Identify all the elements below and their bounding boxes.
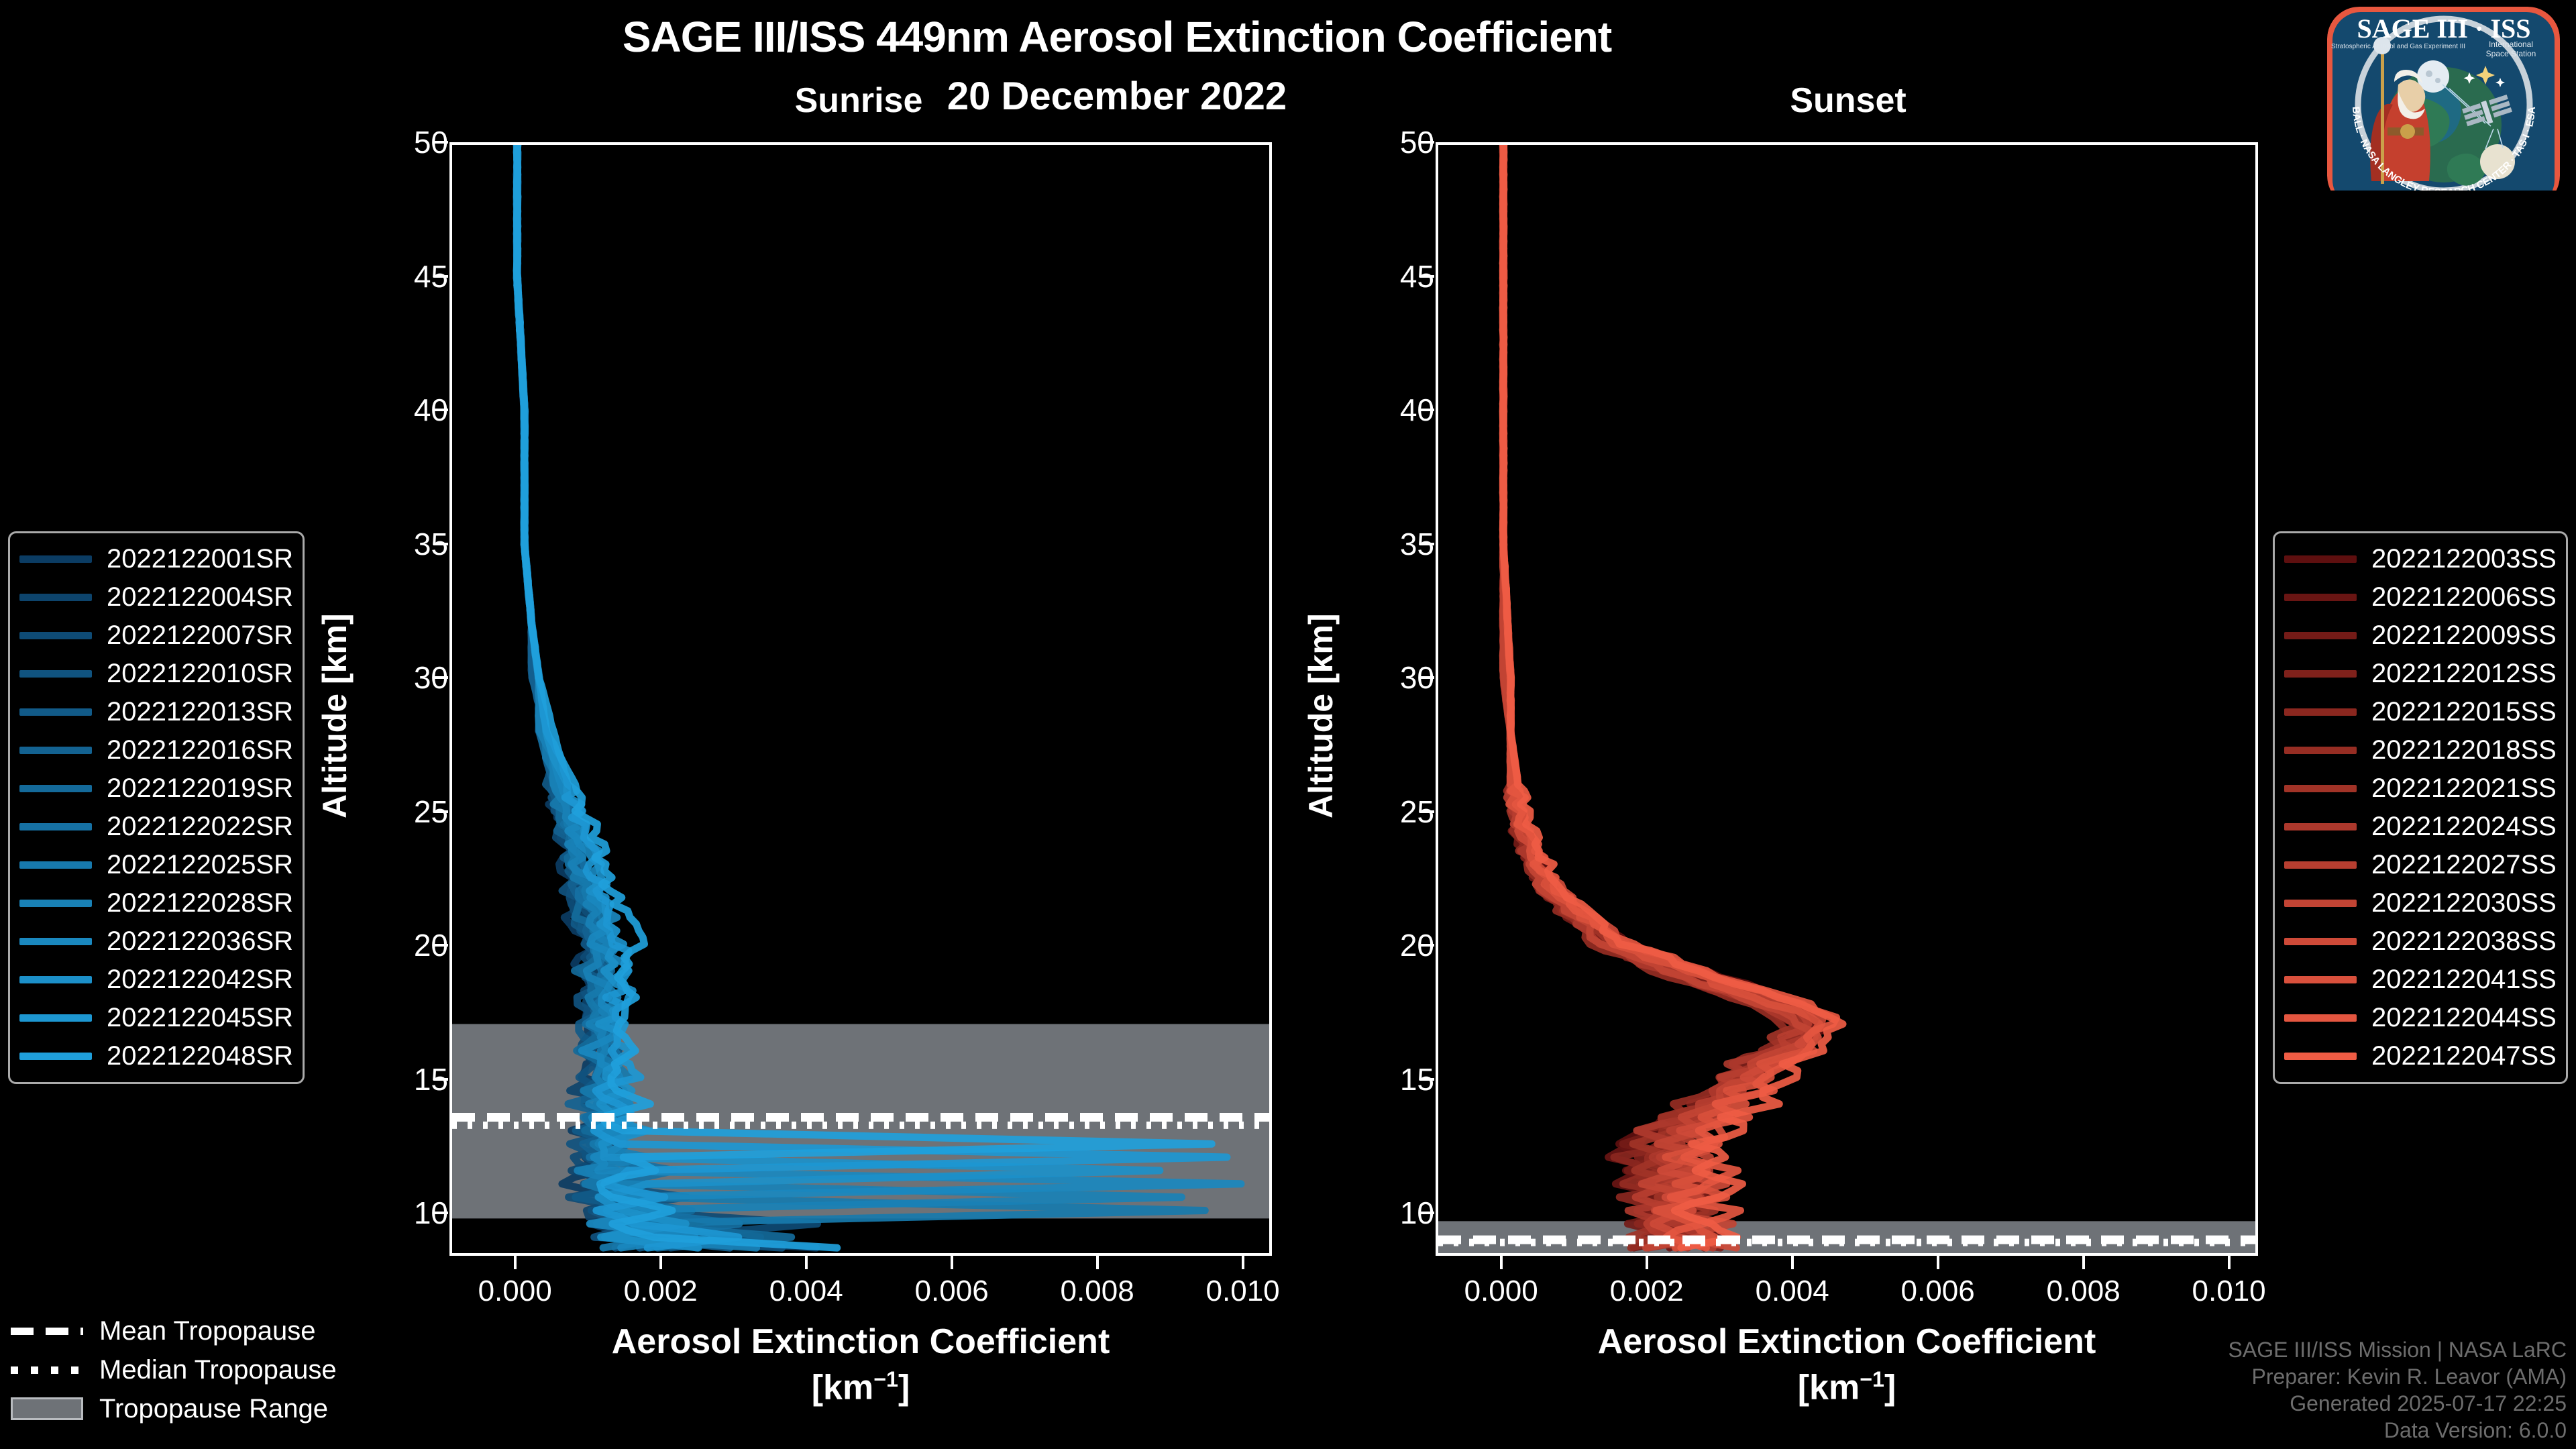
legend-item[interactable]: 2022122016SR [19, 731, 293, 769]
legend-item[interactable]: 2022122012SS [2284, 655, 2557, 693]
legend-color-swatch [19, 555, 92, 563]
legend-item-label: 2022122006SS [2371, 582, 2557, 612]
x-axis-tick-label: 0.004 [1756, 1275, 1829, 1308]
profile-line [1503, 145, 1843, 1248]
legend-item-label: 2022122048SR [107, 1041, 293, 1071]
sunrise-profile-lines [452, 145, 1269, 1253]
sunset-panel-title: Sunset [1436, 80, 2261, 121]
legend-color-swatch [2284, 594, 2357, 601]
legend-item-label: 2022122010SR [107, 659, 293, 689]
sunrise-x-axis-title: Aerosol Extinction Coefficient [449, 1322, 1272, 1362]
legend-item[interactable]: 2022122028SR [19, 884, 293, 922]
x-axis-tick-mark [514, 1256, 517, 1269]
x-axis-tick-mark [805, 1256, 808, 1269]
legend-item-mean-tropopause: Mean Tropopause [11, 1311, 386, 1350]
legend-color-swatch [19, 938, 92, 945]
y-axis-tick-mark [433, 1212, 448, 1214]
y-axis-tick-mark [433, 543, 448, 545]
x-unit-exponent: −1 [1860, 1367, 1884, 1391]
x-axis-tick-label: 0.004 [769, 1275, 843, 1308]
legend-color-swatch [2284, 632, 2357, 639]
sunrise-x-axis: 0.0000.0020.0040.0060.0080.010 [449, 1256, 1272, 1316]
legend-color-swatch [19, 785, 92, 792]
legend-item-label: 2022122027SS [2371, 850, 2557, 880]
legend-item-label: 2022122016SR [107, 735, 293, 765]
legend-color-swatch [19, 670, 92, 678]
x-axis-tick-label: 0.008 [2047, 1275, 2121, 1308]
legend-item[interactable]: 2022122004SR [19, 578, 293, 616]
legend-item-label: 2022122018SS [2371, 735, 2557, 765]
legend-color-swatch [19, 900, 92, 907]
legend-item-label: 2022122001SR [107, 544, 293, 574]
legend-color-swatch [19, 861, 92, 869]
legend-color-swatch [2284, 708, 2357, 716]
y-axis-tick-mark [433, 810, 448, 813]
legend-item-label: 2022122047SS [2371, 1041, 2557, 1071]
legend-item[interactable]: 2022122048SR [19, 1037, 293, 1075]
legend-item-label: 2022122003SS [2371, 544, 2557, 574]
sunset-series-legend[interactable]: 2022122003SS2022122006SS2022122009SS2022… [2273, 531, 2568, 1084]
legend-item-label: 2022122044SS [2371, 1003, 2557, 1033]
x-axis-tick-label: 0.010 [2192, 1275, 2266, 1308]
legend-item[interactable]: 2022122036SR [19, 922, 293, 961]
legend-item[interactable]: 2022122041SS [2284, 961, 2557, 999]
legend-item-label: 2022122009SS [2371, 621, 2557, 651]
x-axis-tick-mark [1242, 1256, 1244, 1269]
legend-item-label: 2022122025SR [107, 850, 293, 880]
legend-item[interactable]: 2022122027SS [2284, 846, 2557, 884]
x-axis-tick-label: 0.000 [478, 1275, 552, 1308]
sunset-plot-area [1436, 142, 2258, 1256]
profile-line [1503, 145, 1821, 1248]
legend-item-label: 2022122042SR [107, 965, 293, 995]
legend-color-swatch [19, 632, 92, 639]
legend-item[interactable]: 2022122013SR [19, 693, 293, 731]
legend-item[interactable]: 2022122003SS [2284, 540, 2557, 578]
legend-item[interactable]: 2022122010SR [19, 655, 293, 693]
credits-line-preparer: Preparer: Kevin R. Leavor (AMA) [2229, 1363, 2567, 1390]
legend-color-swatch [2284, 900, 2357, 907]
legend-item-label: 2022122038SS [2371, 926, 2557, 957]
y-axis-tick-mark [1419, 543, 1434, 545]
legend-color-swatch [19, 823, 92, 830]
sunset-x-axis-unit: [km−1] [1436, 1367, 2258, 1407]
dashed-line-icon [11, 1320, 83, 1342]
legend-label-tropopause-range: Tropopause Range [99, 1394, 328, 1424]
legend-item[interactable]: 2022122007SR [19, 616, 293, 655]
x-unit-exponent: −1 [873, 1367, 898, 1391]
credits-line-generated: Generated 2025-07-17 22:25 [2229, 1390, 2567, 1417]
patch-subtitle-right-2: Space Station [2486, 49, 2536, 58]
legend-item[interactable]: 2022122006SS [2284, 578, 2557, 616]
legend-item-label: 2022122012SS [2371, 659, 2557, 689]
sunrise-plot-area [449, 142, 1272, 1256]
y-axis-tick-mark [1419, 1212, 1434, 1214]
y-axis-tick-mark [433, 275, 448, 278]
legend-item-label: 2022122021SS [2371, 773, 2557, 804]
legend-item[interactable]: 2022122019SR [19, 769, 293, 808]
legend-item-label: 2022122019SR [107, 773, 293, 804]
legend-item[interactable]: 2022122047SS [2284, 1037, 2557, 1075]
sunset-profile-lines [1438, 145, 2255, 1253]
legend-item-label: 2022122013SR [107, 697, 293, 727]
y-axis-tick-mark [1419, 275, 1434, 278]
x-axis-tick-mark [1937, 1256, 1939, 1269]
legend-item[interactable]: 2022122030SS [2284, 884, 2557, 922]
legend-item-label: 2022122041SS [2371, 965, 2557, 995]
x-unit-prefix: [km [812, 1368, 873, 1407]
legend-color-swatch [19, 1053, 92, 1060]
x-unit-suffix: ] [898, 1368, 910, 1407]
legend-color-swatch [19, 708, 92, 716]
profile-line [1503, 145, 1819, 1248]
credits-block: SAGE III/ISS Mission | NASA LaRC Prepare… [2229, 1336, 2567, 1444]
y-axis-tick-mark [1419, 141, 1434, 144]
y-axis-tick-mark [433, 409, 448, 411]
legend-item-median-tropopause: Median Tropopause [11, 1350, 386, 1389]
legend-label-median-tropopause: Median Tropopause [99, 1355, 337, 1385]
sunset-x-axis-title: Aerosol Extinction Coefficient [1436, 1322, 2258, 1362]
sunset-y-axis-title: Altitude [km] [1301, 613, 1340, 818]
x-axis-tick-mark [1791, 1256, 1794, 1269]
patch-subtitle-right-1: International [2489, 40, 2533, 49]
legend-color-swatch [2284, 670, 2357, 678]
x-axis-tick-label: 0.006 [915, 1275, 989, 1308]
patch-subtitle-left: Stratospheric Aerosol and Gas Experiment… [2331, 43, 2465, 50]
legend-color-swatch [2284, 785, 2357, 792]
legend-item[interactable]: 2022122021SS [2284, 769, 2557, 808]
legend-item[interactable]: 2022122022SR [19, 808, 293, 846]
legend-color-swatch [2284, 555, 2357, 563]
legend-item[interactable]: 2022122025SR [19, 846, 293, 884]
legend-item[interactable]: 2022122015SS [2284, 693, 2557, 731]
legend-item[interactable]: 2022122044SS [2284, 999, 2557, 1037]
legend-item[interactable]: 2022122038SS [2284, 922, 2557, 961]
legend-item-label: 2022122024SS [2371, 812, 2557, 842]
x-axis-tick-mark [1646, 1256, 1648, 1269]
legend-item-label: 2022122028SR [107, 888, 293, 918]
page-title: SAGE III/ISS 449nm Aerosol Extinction Co… [0, 12, 2234, 62]
sunrise-panel-title: Sunrise [443, 80, 1275, 121]
legend-item-label: 2022122007SR [107, 621, 293, 651]
x-axis-tick-label: 0.006 [1901, 1275, 1975, 1308]
y-axis-tick-mark [1419, 810, 1434, 813]
legend-item[interactable]: 2022122042SR [19, 961, 293, 999]
x-axis-tick-label: 0.010 [1206, 1275, 1280, 1308]
x-axis-tick-label: 0.002 [1610, 1275, 1684, 1308]
legend-item-label: 2022122030SS [2371, 888, 2557, 918]
y-axis-tick-mark [433, 676, 448, 679]
legend-color-swatch [19, 976, 92, 983]
x-axis-tick-mark [1096, 1256, 1099, 1269]
y-axis-tick-mark [1419, 676, 1434, 679]
legend-item[interactable]: 2022122001SR [19, 540, 293, 578]
legend-color-swatch [19, 594, 92, 601]
legend-item[interactable]: 2022122018SS [2284, 731, 2557, 769]
x-unit-prefix: [km [1798, 1368, 1860, 1407]
legend-color-swatch [2284, 823, 2357, 830]
credits-line-mission: SAGE III/ISS Mission | NASA LaRC [2229, 1336, 2567, 1363]
legend-item-tropopause-range: Tropopause Range [11, 1389, 386, 1428]
y-axis-tick-mark [433, 944, 448, 947]
credits-line-version: Data Version: 6.0.0 [2229, 1417, 2567, 1444]
y-axis-tick-mark [1419, 1078, 1434, 1081]
legend-item-label: 2022122022SR [107, 812, 293, 842]
sunrise-series-legend[interactable]: 2022122001SR2022122004SR2022122007SR2022… [8, 531, 305, 1084]
x-axis-tick-mark [1500, 1256, 1503, 1269]
legend-color-swatch [19, 1014, 92, 1022]
legend-color-swatch [19, 747, 92, 754]
x-axis-tick-mark [2228, 1256, 2231, 1269]
legend-item[interactable]: 2022122009SS [2284, 616, 2557, 655]
legend-item[interactable]: 2022122045SR [19, 999, 293, 1037]
x-axis-tick-label: 0.002 [624, 1275, 698, 1308]
legend-item-label: 2022122036SR [107, 926, 293, 957]
dotted-line-icon [11, 1358, 83, 1381]
gray-band-icon [11, 1397, 83, 1420]
y-axis-tick-mark [1419, 409, 1434, 411]
x-axis-tick-mark [659, 1256, 662, 1269]
tropopause-legend: Mean Tropopause Median Tropopause Tropop… [11, 1311, 386, 1428]
x-axis-tick-label: 0.000 [1464, 1275, 1538, 1308]
legend-item-label: 2022122004SR [107, 582, 293, 612]
y-axis-tick-mark [433, 1078, 448, 1081]
x-unit-suffix: ] [1884, 1368, 1896, 1407]
y-axis-tick-mark [1419, 944, 1434, 947]
x-axis-tick-mark [951, 1256, 953, 1269]
legend-color-swatch [2284, 1014, 2357, 1022]
legend-color-swatch [2284, 938, 2357, 945]
legend-item[interactable]: 2022122024SS [2284, 808, 2557, 846]
x-axis-tick-mark [2082, 1256, 2085, 1269]
sunset-x-axis: 0.0000.0020.0040.0060.0080.010 [1436, 1256, 2258, 1316]
legend-color-swatch [2284, 747, 2357, 754]
x-axis-tick-label: 0.008 [1061, 1275, 1134, 1308]
legend-color-swatch [2284, 1053, 2357, 1060]
legend-item-label: 2022122045SR [107, 1003, 293, 1033]
sage-iii-iss-mission-patch-logo: SAGE III · ISS Stratospheric Aerosol and… [2318, 4, 2569, 191]
y-axis-tick-mark [433, 141, 448, 144]
legend-color-swatch [2284, 976, 2357, 983]
sunrise-x-axis-unit: [km−1] [449, 1367, 1272, 1407]
legend-color-swatch [2284, 861, 2357, 869]
sunrise-y-axis-title: Altitude [km] [315, 613, 354, 818]
legend-label-mean-tropopause: Mean Tropopause [99, 1316, 315, 1346]
legend-item-label: 2022122015SS [2371, 697, 2557, 727]
